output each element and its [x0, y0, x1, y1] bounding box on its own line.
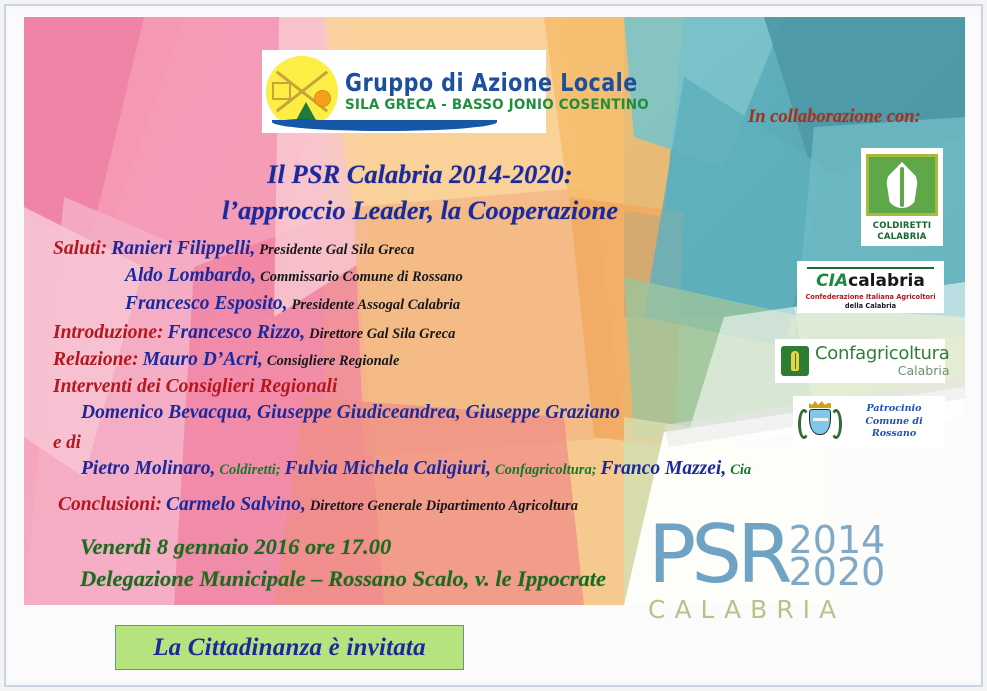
gal-logo-title: Gruppo di Azione Locale — [345, 70, 646, 95]
poster-canvas: Gruppo di Azione Locale SILA GRECA - BAS… — [0, 0, 987, 691]
psr-calabria-logo: PSR 2014 2020 CALABRIA — [648, 524, 874, 644]
relazione-name: Mauro D’Acri, — [143, 349, 263, 370]
cia-subtitle-2: della Calabria — [803, 302, 938, 311]
edi-label: e di — [53, 432, 81, 453]
conclusioni-role: Direttore Generale Dipartimento Agricolt… — [310, 498, 578, 514]
introduzione-role: Direttore Gal Sila Greca — [309, 326, 455, 342]
saluti-label: Saluti: — [53, 238, 107, 259]
programme-row-edi: e di — [53, 432, 81, 454]
saluti-2-role: Presidente Assogal Calabria — [292, 297, 461, 313]
programme-row-conclusioni: Conclusioni: Carmelo Salvino, Direttore … — [58, 494, 578, 516]
introduzione-label: Introduzione: — [53, 322, 164, 343]
psr-mark: PSR — [648, 524, 788, 586]
rappresentante-2-org: Cia — [730, 462, 751, 478]
patrocinio-line-2: Comune di Rossano — [848, 416, 940, 442]
rappresentante-2-name: Franco Mazzei, — [601, 458, 727, 479]
saluti-1-name: Aldo Lombardo, — [125, 265, 256, 286]
conclusioni-name: Carmelo Salvino, — [166, 494, 306, 515]
gal-logo-subtitle: SILA GRECA - BASSO JONIO COSENTINO — [345, 98, 649, 113]
invitation-banner: La Cittadinanza è invitata — [115, 625, 464, 670]
introduzione-name: Francesco Rizzo, — [168, 322, 306, 343]
rappresentante-1-org: Confagricoltura; — [495, 462, 597, 478]
cia-mark-black: calabria — [848, 271, 925, 291]
relazione-role: Consigliere Regionale — [267, 353, 400, 369]
event-datetime: Venerdì 8 gennaio 2016 ore 17.00 — [80, 531, 606, 563]
psr-region: CALABRIA — [648, 595, 874, 624]
coldiretti-calabria-logo: COLDIRETTI CALABRIA — [861, 148, 943, 246]
rappresentante-1-name: Fulvia Michela Caligiuri, — [285, 458, 491, 479]
programme-row-saluti-3: Francesco Esposito, Presidente Assogal C… — [125, 293, 460, 315]
comune-coat-of-arms-icon — [798, 400, 842, 444]
programme-row-introduzione: Introduzione: Francesco Rizzo, Direttore… — [53, 322, 455, 344]
confagricoltura-wheat-icon — [781, 346, 809, 376]
coldiretti-name: COLDIRETTI — [866, 221, 938, 232]
rappresentante-0-name: Pietro Molinaro, — [81, 458, 215, 479]
event-when-where: Venerdì 8 gennaio 2016 ore 17.00 Delegaz… — [80, 531, 606, 595]
cia-subtitle-1: Confederazione Italiana Agricoltori — [803, 293, 938, 302]
poster-title: Il PSR Calabria 2014-2020: l’approccio L… — [150, 156, 690, 229]
saluti-1-role: Commissario Comune di Rossano — [260, 269, 463, 285]
programme-row-rappresentanti: Pietro Molinaro, Coldiretti; Fulvia Mich… — [81, 458, 751, 480]
saluti-0-name: Ranieri Filippelli, — [111, 238, 255, 259]
confagricoltura-name: Confagricoltura — [815, 345, 950, 363]
conclusioni-label: Conclusioni: — [58, 494, 162, 515]
programme-row-saluti-2: Aldo Lombardo, Commissario Comune di Ros… — [125, 265, 463, 287]
event-venue: Delegazione Municipale – Rossano Scalo, … — [80, 563, 606, 595]
patrocinio-comune-rossano-logo: Patrocinio Comune di Rossano — [793, 396, 945, 448]
rappresentante-0-org: Coldiretti; — [219, 462, 280, 478]
programme-row-saluti: Saluti: Ranieri Filippelli, Presidente G… — [53, 238, 414, 260]
programme-row-relazione: Relazione: Mauro D’Acri, Consigliere Reg… — [53, 349, 399, 371]
coldiretti-leaf-icon — [866, 154, 938, 216]
title-line-1: Il PSR Calabria 2014-2020: — [150, 156, 690, 192]
invitation-text: La Cittadinanza è invitata — [153, 634, 426, 662]
coldiretti-region: CALABRIA — [866, 232, 938, 243]
cia-rule-divider — [807, 267, 934, 269]
programme-row-consiglieri: Domenico Bevacqua, Giuseppe Giudiceandre… — [81, 402, 620, 424]
interventi-label: Interventi dei Consiglieri Regionali — [53, 376, 337, 397]
collaboration-label: In collaborazione con: — [748, 107, 921, 128]
confagricoltura-region: Calabria — [815, 365, 950, 378]
consiglieri-names: Domenico Bevacqua, Giuseppe Giudiceandre… — [81, 402, 620, 423]
cia-mark-green: CIA — [816, 271, 848, 291]
saluti-0-role: Presidente Gal Sila Greca — [259, 242, 414, 258]
psr-year-to: 2020 — [789, 557, 886, 589]
confagricoltura-calabria-logo: Confagricoltura Calabria — [775, 339, 945, 383]
cia-calabria-logo: CIAcalabria Confederazione Italiana Agri… — [797, 261, 944, 313]
title-line-2: l’approccio Leader, la Cooperazione — [150, 192, 690, 228]
gal-emblem-icon — [266, 56, 338, 128]
patrocinio-line-1: Patrocinio — [848, 403, 940, 416]
saluti-2-name: Francesco Esposito, — [125, 293, 288, 314]
programme-row-interventi: Interventi dei Consiglieri Regionali — [53, 376, 337, 398]
relazione-label: Relazione: — [53, 349, 139, 370]
